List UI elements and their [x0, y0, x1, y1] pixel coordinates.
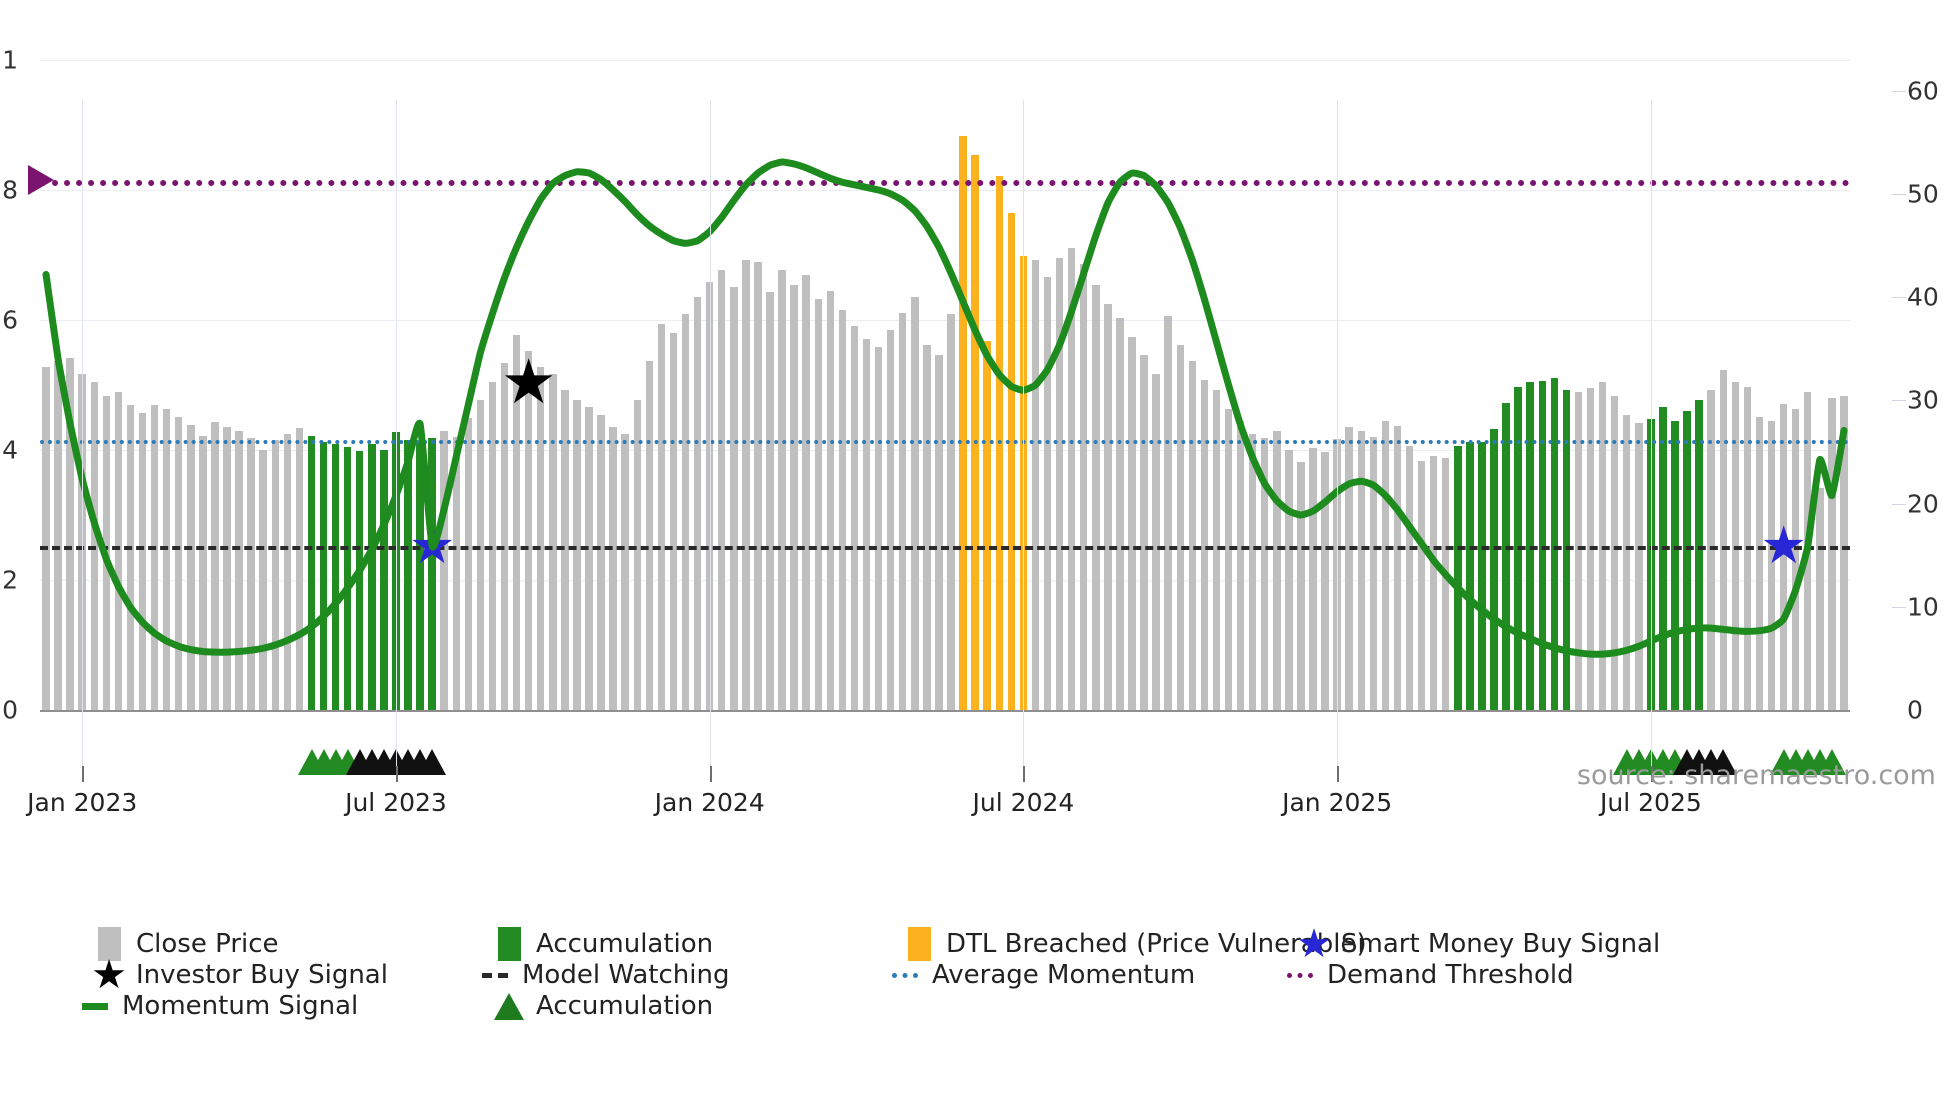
legend-item-label: Momentum Signal: [122, 991, 358, 1021]
x-axis-tick: [396, 766, 398, 782]
x-axis-tick-label: Jan 2024: [655, 788, 765, 817]
x-axis-tick: [1023, 766, 1025, 782]
chart-plot-area: ★★★ 00.20.40.60.810102030405060: [40, 60, 1850, 710]
x-axis-gridline: [1651, 100, 1652, 772]
y-axis-right-tick-label: 30: [1907, 386, 1939, 415]
source-note: source: sharemaestro.com: [1577, 760, 1936, 791]
x-axis-tick-label: Jan 2023: [27, 788, 137, 817]
legend-item-label: Average Momentum: [932, 960, 1195, 990]
y-axis-right-tick-label: 0: [1907, 696, 1923, 725]
x-axis-tick-label: Jul 2024: [973, 788, 1075, 817]
x-axis-tick-label: Jul 2023: [345, 788, 447, 817]
y-axis-right-tick-label: 60: [1907, 76, 1939, 105]
x-axis-tick-label: Jan 2025: [1282, 788, 1392, 817]
y-axis-left-tick-label: 0.8: [0, 176, 18, 205]
legend-item-label: Investor Buy Signal: [136, 960, 388, 990]
y-axis-left-tick-label: 0.4: [0, 436, 18, 465]
x-axis-tick: [710, 766, 712, 782]
x-axis-gridline: [82, 100, 83, 772]
x-axis-tick: [1337, 766, 1339, 782]
legend-item-momentum-signal[interactable]: Momentum Signal: [82, 987, 358, 1025]
y-axis-right-tick: [1892, 91, 1906, 92]
demand-threshold-line-icon: [1287, 957, 1313, 993]
x-axis-gridline: [1023, 100, 1024, 772]
y-axis-right-tick-label: 20: [1907, 489, 1939, 518]
y-axis-left-tick-label: 0.6: [0, 306, 18, 335]
momentum-signal-curve: [40, 60, 1850, 710]
legend-item-label: Model Watching: [522, 960, 729, 990]
momentum-signal-line-icon: [82, 988, 108, 1024]
y-axis-left-tick-label: 1: [2, 46, 18, 75]
x-axis-tick: [82, 766, 84, 782]
y-axis-left-tick-label: 0: [2, 696, 18, 725]
x-axis-tick-label: Jul 2025: [1600, 788, 1702, 817]
x-axis-gridline: [710, 100, 711, 772]
legend-item-average-momentum[interactable]: Average Momentum: [892, 956, 1195, 994]
x-axis-gridline: [1337, 100, 1338, 772]
y-axis-right-tick: [1892, 400, 1906, 401]
average-momentum-line-icon: [892, 957, 918, 993]
y-axis-right-tick-label: 40: [1907, 283, 1939, 312]
x-axis-gridline: [396, 100, 397, 772]
y-axis-right-tick: [1892, 297, 1906, 298]
legend-item-label: Close Price: [136, 929, 279, 959]
momentum-chart-page: ★★★ 00.20.40.60.810102030405060 Jan 2023…: [0, 0, 1960, 1102]
y-axis-right-tick: [1892, 194, 1906, 195]
y-axis-right-tick: [1892, 607, 1906, 608]
legend-item-accumulation-tri[interactable]: Accumulation: [496, 987, 713, 1025]
legend-item-demand-threshold[interactable]: Demand Threshold: [1287, 956, 1574, 994]
y-axis-right-tick-label: 50: [1907, 180, 1939, 209]
accumulation-triangle-icon: [496, 988, 522, 1024]
y-axis-left-tick-label: 0.2: [0, 566, 18, 595]
legend-item-label: Accumulation: [536, 929, 713, 959]
legend-item-label: Demand Threshold: [1327, 960, 1574, 990]
legend-item-label: Accumulation: [536, 991, 713, 1021]
legend-item-label: Smart Money Buy Signal: [1341, 929, 1660, 959]
y-axis-right-tick: [1892, 504, 1906, 505]
y-axis-right-tick-label: 10: [1907, 592, 1939, 621]
